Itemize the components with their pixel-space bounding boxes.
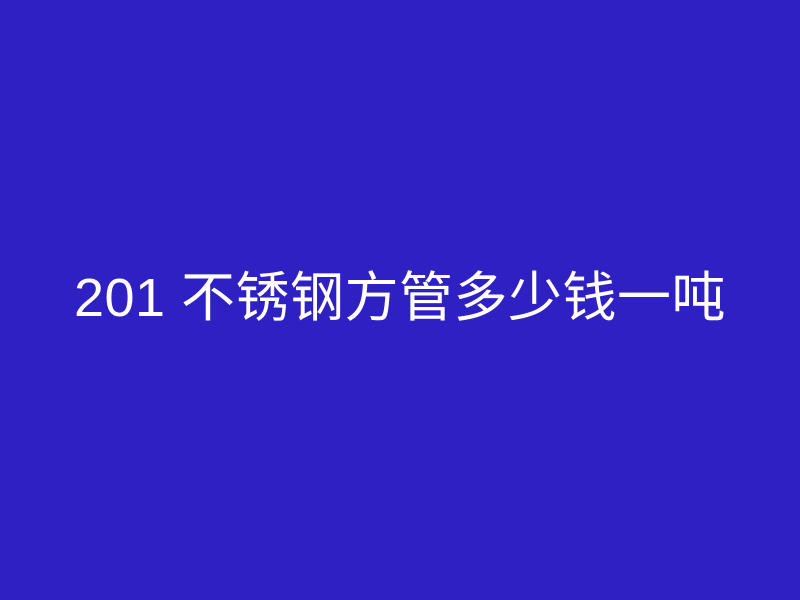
page-title: 201 不锈钢方管多少钱一吨: [74, 267, 726, 329]
banner-canvas: 201 不锈钢方管多少钱一吨: [0, 0, 800, 600]
headline-block: 201 不锈钢方管多少钱一吨: [0, 267, 800, 329]
